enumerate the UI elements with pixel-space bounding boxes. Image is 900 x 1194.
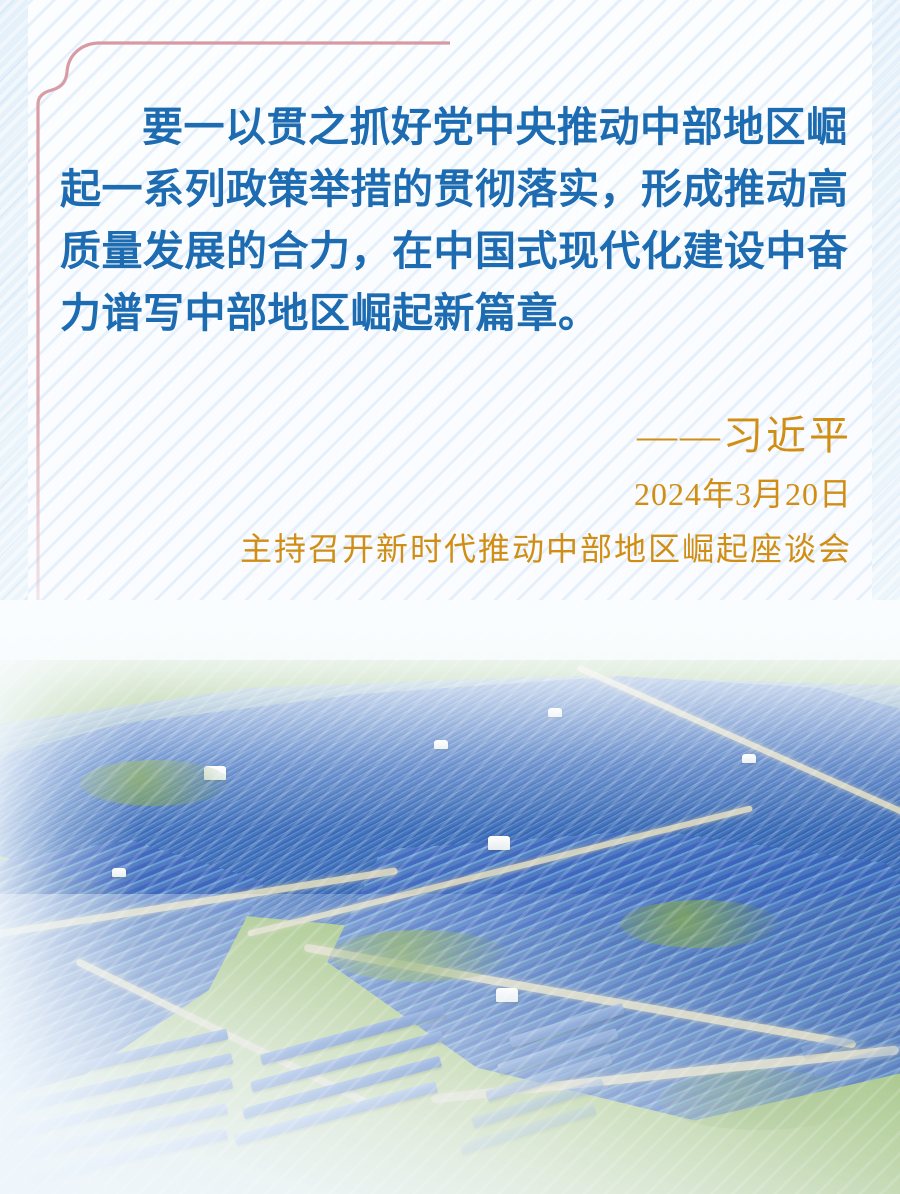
photo-aerial-solar-farm [0,600,900,1194]
quote-line-1: 要一以贯之抓好党中央推动中部地区崛 [60,96,860,158]
quote-line-4: 力谱写中部地区崛起新篇章。 [60,282,860,344]
quote-line-3: 质量发展的合力，在中国式现代化建设中奋 [60,220,860,282]
quote-line-2: 起一系列政策举措的贯彻落实，形成推动高 [60,158,860,220]
attribution-date: 2024年3月20日 [60,468,852,520]
photo-scene [0,600,900,1194]
attribution-author: ——习近平 [60,408,852,464]
quote-block: 要一以贯之抓好党中央推动中部地区崛 起一系列政策举措的贯彻落实，形成推动高 质量… [60,96,860,344]
attribution-occasion: 主持召开新时代推动中部地区崛起座谈会 [60,522,852,576]
poster-root: 要一以贯之抓好党中央推动中部地区崛 起一系列政策举措的贯彻落实，形成推动高 质量… [0,0,900,1194]
photo-hatch-overlay [0,600,900,1194]
attribution-block: ——习近平 2024年3月20日 主持召开新时代推动中部地区崛起座谈会 [60,408,852,576]
